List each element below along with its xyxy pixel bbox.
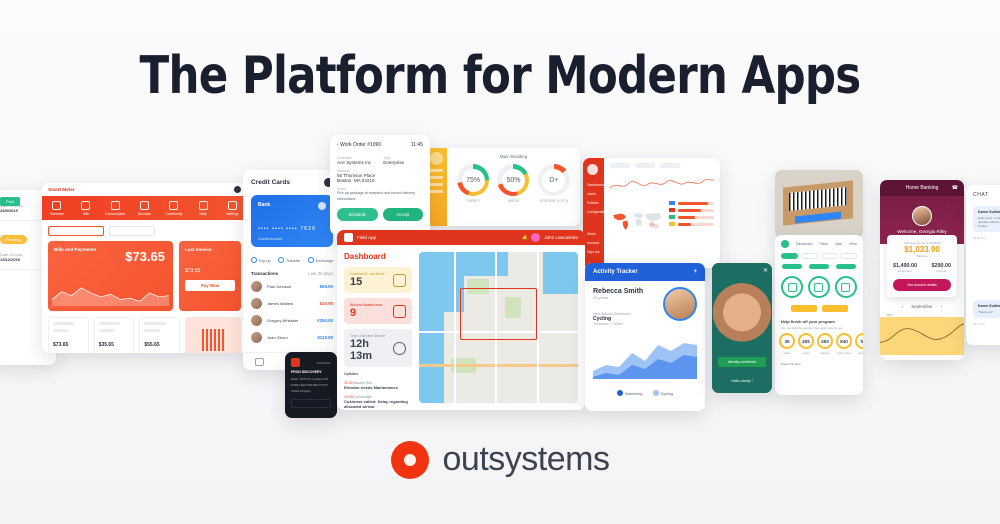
- primary-cta-button[interactable]: [791, 305, 817, 312]
- close-icon[interactable]: ✕: [763, 267, 768, 274]
- nav-item[interactable]: Bills: [71, 196, 100, 220]
- income-caption: Income: [932, 269, 952, 273]
- credit-title: Credit Cards: [251, 179, 290, 186]
- pay-now-button[interactable]: Pay Now: [185, 280, 235, 291]
- work-order-header: ‹ Work Order #1090 11:45: [330, 135, 430, 152]
- bills-chart[interactable]: Bills and Payments $73.65: [48, 241, 173, 311]
- stat-item: 405points: [798, 333, 814, 355]
- analytics-tabs[interactable]: [610, 163, 714, 168]
- logo-icon: [781, 240, 789, 248]
- wellness-nav[interactable]: Dashboard: [796, 242, 813, 246]
- bills-sparkline: [52, 280, 169, 306]
- route-map[interactable]: [419, 252, 578, 403]
- chat-time: 09:02 AM: [973, 236, 1000, 240]
- chat-text: Hello once, a short question about my in…: [978, 216, 1000, 228]
- credit-header: Credit Cards: [243, 170, 341, 191]
- wellness-nav[interactable]: Plans: [820, 242, 828, 246]
- exchange-icon: [308, 257, 314, 263]
- video-call-card[interactable]: ✕ Identity confirmed Hello Andy !: [712, 263, 772, 393]
- field-app-dashboard[interactable]: Field App 🔔John Lancashire Dashboard Cus…: [337, 230, 585, 410]
- alert-body: PROD DISCOVERY Down: OUTSYS module 4.3.0…: [285, 370, 337, 394]
- activity-legend: Swimming Cycling: [585, 386, 705, 400]
- exchange-button[interactable]: Exchange: [308, 257, 334, 263]
- app-screens-collage: Paid Date of Loss 24/5/2019 Pending Date…: [0, 130, 1000, 420]
- meter-title: Smart Meter: [48, 187, 75, 192]
- wellness-prompt: Help finish off your program: [775, 317, 863, 326]
- stat-value: 493: [817, 333, 833, 349]
- wellness-stats: 35steps 405points 493calories 940active …: [775, 330, 863, 358]
- meter-summary-cards: $73.65 Overdue $35.65 $55.65: [48, 317, 241, 353]
- analytics-line-chart: [610, 172, 714, 197]
- sidebar-item-users[interactable]: Users: [587, 192, 600, 196]
- tab-weekly[interactable]: [610, 163, 630, 168]
- help-icon: [199, 201, 208, 210]
- flag-icon: [669, 201, 675, 205]
- stat-caption: calories: [817, 351, 833, 355]
- wellness-header: Dashboard Plans Care More: [775, 235, 863, 253]
- gauge-caption: ENERGY: [457, 199, 489, 203]
- transaction-row[interactable]: Paul Johnson $65.00: [243, 278, 341, 295]
- sidebar-item-policies[interactable]: Policies: [587, 201, 600, 205]
- alert-line: Down: OUTSYS module 4.3.0: [291, 377, 331, 381]
- qr-code-icon: [202, 329, 224, 351]
- wellness-rings: [775, 272, 863, 300]
- phone-icon[interactable]: ☎: [952, 185, 958, 191]
- bills-amount: $73.65: [125, 249, 165, 264]
- rank-row: [669, 208, 714, 212]
- stat-card-customers[interactable]: Customers I can Serve 15: [344, 267, 412, 293]
- field-value: Boston, MA 02210: [337, 178, 423, 183]
- nav-item[interactable]: Help: [188, 196, 217, 220]
- balance-card: Total Account as of 09/09/19 $1,033.90 B…: [887, 235, 957, 297]
- activity-area-chart: [593, 331, 697, 379]
- stat-caption: active mins: [836, 351, 852, 355]
- sidebar-item-configuration[interactable]: Configuration: [587, 210, 600, 214]
- dashboard-title: Dashboard: [344, 252, 412, 261]
- banking-header: Home Banking ☎: [880, 180, 964, 196]
- app-name: Field App: [357, 235, 376, 240]
- tab-yearly[interactable]: [660, 163, 680, 168]
- action-label: Transfer: [286, 258, 301, 263]
- gauge-value: D+: [542, 169, 565, 192]
- chat-bubble: Karen Sullivan Hello once, a short quest…: [973, 206, 1000, 232]
- stat-caption: sessions: [855, 351, 863, 355]
- legend-cycling: Cycling: [653, 390, 673, 396]
- flag-icon: [669, 222, 675, 226]
- alert-line: $ PRO-SECTOR 08A 17 PTS: [291, 383, 331, 387]
- world-map: [610, 201, 663, 243]
- ring-badge: [835, 276, 857, 298]
- update-text: Elevator needs Maintenance: [344, 385, 412, 390]
- chat-time: 09:11 AM: [973, 322, 1000, 326]
- stat-card-next-service[interactable]: Time Until Next Service 12h 13m: [344, 329, 412, 367]
- filter-date[interactable]: [109, 226, 155, 236]
- services-icon: [140, 201, 149, 210]
- alert-title: PROD DISCOVERY: [291, 370, 331, 374]
- field-app-header: Field App 🔔John Lancashire: [337, 230, 585, 245]
- work-order-actions[interactable]: Schedule Accept: [330, 203, 430, 226]
- stat-value: 58: [855, 333, 863, 349]
- chat-title: CHAT: [966, 185, 1000, 202]
- chat-bubble: Karen Sullivan Thank you!: [973, 300, 1000, 318]
- activity-body: Rebecca Smith 29 years Next Activity Sch…: [585, 281, 705, 386]
- outsystems-circle-icon: [391, 441, 429, 479]
- status-badge: Paid: [0, 197, 20, 206]
- next-activity-time: Tomorrow, 7:30am: [593, 322, 697, 326]
- meter-titlebar: Smart Meter: [42, 183, 247, 196]
- work-order-card[interactable]: ‹ Work Order #1090 11:45 Customer Ace Sy…: [330, 135, 430, 235]
- transaction-row[interactable]: James Walters $20.00: [243, 295, 341, 312]
- meter-body: Bills and Payments $73.65 Last Invoice $…: [42, 220, 247, 353]
- sidebar-item-signout[interactable]: Sign out: [587, 250, 600, 254]
- sidebar-item-alerts[interactable]: Alerts: [587, 232, 600, 236]
- avatar: [251, 332, 262, 343]
- building-icon: [430, 152, 443, 165]
- nav-label: Help: [200, 212, 207, 216]
- smart-meter-dashboard[interactable]: Smart Meter Overview Bills Consumption S…: [42, 183, 247, 353]
- prev-month-icon[interactable]: ‹: [902, 304, 903, 309]
- page-background: The Platform for Modern Apps Paid Date o…: [0, 0, 1000, 524]
- alert-action-button[interactable]: [291, 399, 331, 408]
- summary-amount: $55.65: [144, 342, 175, 348]
- gauge-energy: 75% ENERGY: [457, 164, 489, 203]
- wellness-tags: [775, 264, 863, 272]
- alert-line: United Kingdom: [291, 389, 331, 393]
- nav-item[interactable]: Overview: [42, 196, 71, 220]
- qr-card[interactable]: Scan in the app now and pay fast.: [185, 317, 241, 353]
- stat-card-maintenance[interactable]: Window Maintenance 9: [344, 298, 412, 324]
- settings-icon: [228, 201, 237, 210]
- summary-card[interactable]: $73.65 Overdue: [48, 317, 89, 353]
- status-badge: Pending: [0, 235, 27, 244]
- clipboard-icon: [393, 274, 406, 287]
- update-text: Customer called: Delay regarding allocat…: [344, 399, 412, 409]
- activity-tracker-card[interactable]: Activity Tracker + Rebecca Smith 29 year…: [585, 263, 705, 411]
- rank-row: [669, 222, 714, 226]
- video-caption: Hello Andy !: [712, 378, 772, 383]
- accept-button[interactable]: Accept: [383, 208, 424, 221]
- nav-label: Bills: [83, 212, 89, 216]
- stat-value: 15: [350, 276, 384, 288]
- contactless-icon: [318, 202, 326, 210]
- balance-caption: Balance: [893, 254, 951, 258]
- update-item[interactable]: 11:30 Boston Site Elevator needs Mainten…: [344, 381, 412, 390]
- transaction-amount: $20.00: [320, 301, 333, 306]
- building-title: Main Building: [453, 154, 574, 159]
- summary-card[interactable]: $35.65: [94, 317, 135, 353]
- page-title: The Platform for Modern Apps: [35, 46, 965, 106]
- transaction-row[interactable]: Gregory Whitaker €250.00: [243, 312, 341, 329]
- brand-name: outsystems: [443, 440, 610, 479]
- stat-value: 405: [798, 333, 814, 349]
- stat-item: 58sessions: [855, 333, 863, 355]
- shield-icon: [814, 283, 823, 292]
- transaction-name: Paul Johnson: [267, 284, 315, 289]
- card-number: •••• •••• •••• 7626: [258, 226, 316, 232]
- warning-icon: [291, 358, 300, 367]
- tab-monthly[interactable]: [635, 163, 655, 168]
- avatar: [912, 206, 932, 226]
- meter-navbar[interactable]: Overview Bills Consumption Services Comm…: [42, 196, 247, 220]
- chat-title-label: CHAT: [973, 192, 989, 198]
- bank-label: Bank: [258, 202, 326, 208]
- activity-header: Activity Tracker +: [585, 263, 705, 281]
- wellness-ctas[interactable]: [775, 300, 863, 317]
- nav-label: Services: [138, 212, 151, 216]
- sidebar-item-account[interactable]: Account: [587, 241, 600, 245]
- gauge-water: 50% WATER: [497, 164, 529, 203]
- avatar: [251, 281, 262, 292]
- topup-button[interactable]: Top-up: [251, 257, 271, 263]
- transfer-button[interactable]: Transfer: [278, 257, 301, 263]
- transactions-header: Transactions Last 30 days: [243, 269, 341, 278]
- next-month-icon[interactable]: ›: [941, 304, 942, 309]
- card-holder: Current Account: [258, 237, 282, 241]
- avatar: [663, 287, 697, 321]
- tab-overview[interactable]: [781, 253, 798, 259]
- chat-sender: Karen Sullivan: [978, 304, 1000, 308]
- work-order-title: Work Order #1090: [340, 142, 381, 148]
- action-label: Exchange: [316, 258, 334, 263]
- activity-title: Activity Tracker: [593, 269, 638, 275]
- gauge-caption: WATER: [497, 199, 529, 203]
- meter-charts: Bills and Payments $73.65 Last Invoice $…: [48, 241, 241, 311]
- stat-caption: steps: [779, 351, 795, 355]
- building-efficiency-card[interactable]: Main Building 75% ENERGY 50% WATER D+ EF: [425, 148, 580, 226]
- field-app-sidebar: Dashboard Customers I can Serve 15 Windo…: [337, 245, 419, 410]
- caller-photo: [712, 263, 772, 393]
- wellness-footer[interactable]: Know this plan: [775, 358, 863, 370]
- alert-tag: WARNING: [317, 361, 331, 365]
- meter-filters[interactable]: [48, 226, 241, 236]
- transaction-amount: $65.00: [320, 284, 333, 289]
- work-order-time: 11:45: [411, 142, 423, 148]
- action-label: Top-up: [259, 258, 271, 263]
- legend-swimming: Swimming: [617, 390, 643, 396]
- summary-card[interactable]: $55.65: [139, 317, 180, 353]
- community-icon: [169, 201, 178, 210]
- nav-label: Overview: [50, 212, 64, 216]
- welcome-text: Welcome, Georgia Riley: [897, 229, 946, 234]
- last-invoice-panel[interactable]: Last Invoice $73.65 Pay Now: [179, 241, 241, 311]
- stat-value: 9: [350, 307, 382, 319]
- schedule-button[interactable]: Schedule: [337, 208, 378, 221]
- avatar[interactable]: [234, 186, 241, 193]
- alert-header: WARNING: [285, 352, 337, 370]
- avatar: [251, 298, 262, 309]
- overview-icon: [52, 201, 61, 210]
- flag-icon: [669, 215, 675, 219]
- gauge-efficiency: D+ EFFICIENCY (YTD): [538, 164, 570, 203]
- identity-confirmed-button[interactable]: Identity confirmed: [718, 357, 766, 367]
- stat-value: 35: [779, 333, 795, 349]
- transaction-name: James Walters: [267, 301, 315, 306]
- country-coverage-list: [669, 201, 714, 243]
- consumption-icon: [111, 201, 120, 210]
- nav-label: Community: [165, 212, 182, 216]
- wellness-tabs[interactable]: [775, 253, 863, 264]
- flag-icon: [669, 208, 675, 212]
- bell-icon[interactable]: 🔔: [522, 235, 528, 241]
- wellness-dashboard[interactable]: Dashboard Plans Care More Help fi: [775, 235, 863, 395]
- transactions-filter[interactable]: Last 30 days: [308, 271, 333, 276]
- barcode-scanner[interactable]: [775, 170, 863, 238]
- field-value: Ace Systems Inc: [337, 160, 371, 165]
- nav-item[interactable]: Consumption: [101, 196, 130, 220]
- secondary-cta-button[interactable]: [822, 305, 848, 312]
- nav-item[interactable]: Community: [159, 196, 188, 220]
- bills-icon: [81, 201, 90, 210]
- banking-title: Home Banking: [906, 185, 939, 191]
- ring-badge: [781, 276, 803, 298]
- stat-value: 12h 13m: [350, 338, 393, 362]
- work-order-body: Customer Ace Systems Inc Type Enterprise…: [330, 152, 430, 203]
- logo-icon: [587, 164, 598, 175]
- wellness-nav[interactable]: Care: [835, 242, 842, 246]
- invoice-title: Last Invoice: [185, 247, 235, 252]
- tab-providers[interactable]: [821, 253, 838, 259]
- filter-primary[interactable]: [48, 226, 104, 236]
- bank-card[interactable]: Bank •••• •••• •••• 7626 Current Account: [251, 195, 333, 247]
- card-actions[interactable]: Top-up Transfer Exchange: [243, 251, 341, 269]
- transaction-amount: €250.00: [317, 318, 333, 323]
- transaction-row[interactable]: Joan Okoro $110.00: [243, 329, 341, 346]
- transaction-name: Gregory Whitaker: [267, 318, 312, 323]
- stat-item: 940active mins: [836, 333, 852, 355]
- chart-icon: [841, 283, 850, 292]
- credit-cards-phone[interactable]: Credit Cards Bank •••• •••• •••• 7626 Cu…: [243, 170, 341, 370]
- update-item[interactable]: 10:05 Cambridge Customer called: Delay r…: [344, 395, 412, 409]
- gauge-group: 75% ENERGY 50% WATER D+ EFFICIENCY (YTD): [453, 164, 574, 203]
- transaction-name: Joan Okoro: [267, 335, 312, 340]
- clock-icon: [393, 342, 406, 355]
- chat-panel[interactable]: CHAT Karen Sullivan Hello once, a short …: [966, 185, 1000, 345]
- home-banking-phone[interactable]: Home Banking ☎ Welcome, Georgia Riley To…: [880, 180, 964, 360]
- gauge-caption: EFFICIENCY (YTD): [538, 199, 570, 203]
- rank-row: [669, 215, 714, 219]
- gauge-value: 75%: [462, 169, 485, 192]
- see-account-details-button[interactable]: See account details: [893, 279, 951, 291]
- back-button[interactable]: ‹ Work Order #1090: [337, 142, 381, 148]
- chat-text: Thank you!: [978, 310, 1000, 314]
- analytics-sidebar[interactable]: Dashboard Users Policies Configuration A…: [583, 158, 604, 268]
- nav-label: Consumption: [105, 212, 125, 216]
- month-selector[interactable]: ‹ September ›: [880, 297, 964, 313]
- rank-row: [669, 201, 714, 205]
- invoice-amount: $73.65: [185, 268, 235, 274]
- stat-item: 35steps: [779, 333, 795, 355]
- analytics-dashboard[interactable]: Dashboard Users Policies Configuration A…: [583, 158, 720, 268]
- wellness-nav[interactable]: More: [849, 242, 857, 246]
- transfer-icon: [278, 257, 284, 263]
- truck-icon: [393, 305, 406, 318]
- plus-icon[interactable]: +: [693, 269, 697, 275]
- user-name: John Lancashire: [544, 235, 578, 240]
- heart-icon: [788, 283, 797, 292]
- ring-badge: [808, 276, 830, 298]
- stat-caption: points: [798, 351, 814, 355]
- brand-logo[interactable]: outsystems: [0, 440, 1000, 479]
- dark-alert-card[interactable]: WARNING PROD DISCOVERY Down: OUTSYS modu…: [285, 352, 337, 418]
- transactions-title: Transactions: [251, 271, 278, 276]
- balance-amount: $1,033.90: [893, 245, 951, 254]
- field-value: Enterprise: [383, 160, 404, 165]
- transaction-amount: $110.00: [317, 335, 333, 340]
- stat-value: 940: [836, 333, 852, 349]
- gauge-value: 50%: [502, 169, 525, 192]
- updates-title: Updates: [344, 372, 412, 376]
- expenses-caption: Expenses: [893, 269, 917, 273]
- plus-icon: [251, 257, 257, 263]
- tab-benefits[interactable]: [801, 253, 818, 259]
- app-logo-icon: [344, 233, 353, 242]
- avatar: [251, 315, 262, 326]
- notes-text: Pick-up package at reception and record …: [337, 191, 423, 203]
- summary-amount: $35.65: [99, 342, 130, 348]
- tab-claims[interactable]: [840, 253, 857, 259]
- stat-item: 493calories: [817, 333, 833, 355]
- sidebar-item-dashboard[interactable]: Dashboard: [587, 183, 600, 187]
- summary-amount: $73.65: [53, 342, 84, 348]
- nav-label: Settings: [226, 212, 238, 216]
- avatar[interactable]: [531, 233, 540, 242]
- month-label: September: [911, 304, 932, 309]
- banking-chart: [880, 317, 964, 355]
- stats-icon[interactable]: [255, 358, 264, 366]
- nav-item[interactable]: Services: [130, 196, 159, 220]
- chat-sender: Karen Sullivan: [978, 210, 1000, 214]
